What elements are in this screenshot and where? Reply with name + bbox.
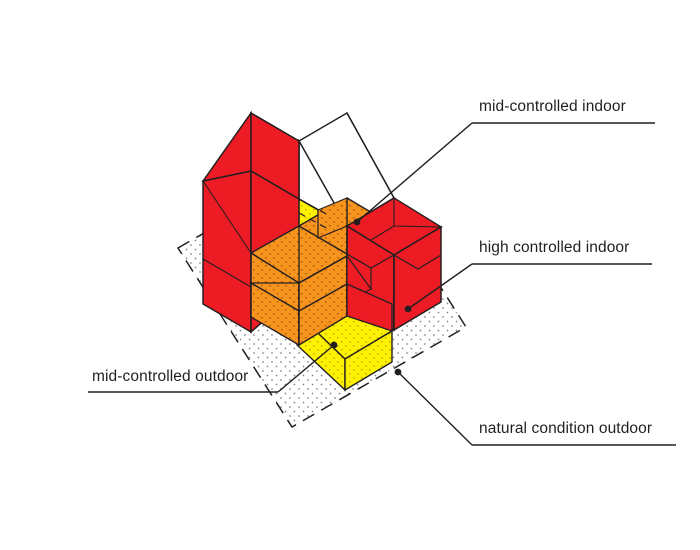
dot-mid-controlled-indoor [354, 219, 361, 226]
label-mid-controlled-indoor: mid-controlled indoor [479, 99, 626, 115]
dot-natural-condition-outdoor [395, 369, 402, 376]
isometric-diagram-svg [0, 0, 700, 550]
label-natural-condition-outdoor: natural condition outdoor [479, 421, 652, 437]
dot-mid-controlled-outdoor [331, 342, 338, 349]
diagram-canvas: mid-controlled indoor high controlled in… [0, 0, 700, 550]
label-high-controlled-indoor: high controlled indoor [479, 240, 629, 256]
label-mid-controlled-outdoor: mid-controlled outdoor [92, 369, 248, 385]
dot-high-controlled-indoor [405, 306, 412, 313]
leader-natural-condition-outdoor [398, 372, 472, 445]
